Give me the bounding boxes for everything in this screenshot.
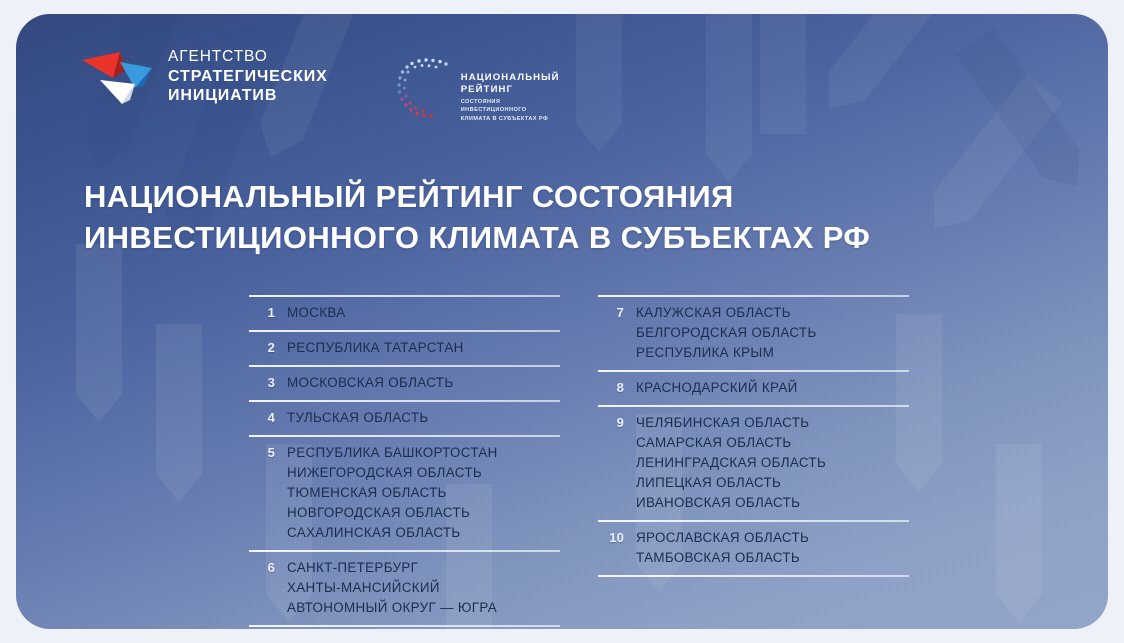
presentation-card: АГЕНТСТВО СТРАТЕГИЧЕСКИХ ИНИЦИАТИВ [16, 14, 1108, 629]
region-list: ТУЛЬСКАЯ ОБЛАСТЬ [287, 408, 429, 428]
rank-number: 8 [598, 378, 624, 398]
region-list: КАЛУЖСКАЯ ОБЛАСТЬБЕЛГОРОДСКАЯ ОБЛАСТЬРЕС… [636, 303, 817, 363]
region-list: ЯРОСЛАВСКАЯ ОБЛАСТЬТАМБОВСКАЯ ОБЛАСТЬ [636, 528, 809, 568]
region-name: ТУЛЬСКАЯ ОБЛАСТЬ [287, 408, 429, 428]
region-name: ХАНТЫ-МАНСИЙСКИЙ [287, 578, 497, 598]
region-name: РЕСПУБЛИКА БАШКОРТОСТАН [287, 443, 498, 463]
region-list: КРАСНОДАРСКИЙ КРАЙ [636, 378, 798, 398]
ranking-row: 10ЯРОСЛАВСКАЯ ОБЛАСТЬТАМБОВСКАЯ ОБЛАСТЬ [598, 520, 909, 575]
page-title-line-2: ИНВЕСТИЦИОННОГО КЛИМАТА В СУБЪЕКТАХ РФ [84, 218, 870, 259]
ranking-row-inner: 6САНКТ-ПЕТЕРБУРГХАНТЫ-МАНСИЙСКИЙАВТОНОМН… [249, 554, 560, 618]
ranking-row: 6САНКТ-ПЕТЕРБУРГХАНТЫ-МАНСИЙСКИЙАВТОНОМН… [249, 550, 560, 625]
region-name: КРАСНОДАРСКИЙ КРАЙ [636, 378, 798, 398]
region-name: НОВГОРОДСКАЯ ОБЛАСТЬ [287, 503, 498, 523]
ranking-row-inner: 7КАЛУЖСКАЯ ОБЛАСТЬБЕЛГОРОДСКАЯ ОБЛАСТЬРЕ… [598, 299, 909, 363]
nr-logo-subtitle: СОСТОЯНИЯ ИНВЕСТИЦИОННОГО КЛИМАТА В СУБЪ… [461, 98, 560, 123]
ranking-row: 1МОСКВА [249, 295, 560, 330]
region-name: МОСКВА [287, 303, 345, 323]
region-list: РЕСПУБЛИКА БАШКОРТОСТАННИЖЕГОРОДСКАЯ ОБЛ… [287, 443, 498, 543]
ranking-row-inner: 1МОСКВА [249, 299, 560, 323]
rank-number: 2 [249, 338, 275, 358]
page-title-line-1: НАЦИОНАЛЬНЫЙ РЕЙТИНГ СОСТОЯНИЯ [84, 177, 870, 218]
region-name: БЕЛГОРОДСКАЯ ОБЛАСТЬ [636, 323, 817, 343]
region-name: МОСКОВСКАЯ ОБЛАСТЬ [287, 373, 453, 393]
national-rating-logo-text: НАЦИОНАЛЬНЫЙ РЕЙТИНГ СОСТОЯНИЯ ИНВЕСТИЦИ… [461, 60, 560, 123]
asi-arrows-logo-icon [80, 48, 154, 106]
rank-number: 3 [249, 373, 275, 393]
region-name: КАЛУЖСКАЯ ОБЛАСТЬ [636, 303, 817, 323]
region-list: ЧЕЛЯБИНСКАЯ ОБЛАСТЬСАМАРСКАЯ ОБЛАСТЬЛЕНИ… [636, 413, 826, 513]
ranking-row: 3МОСКОВСКАЯ ОБЛАСТЬ [249, 365, 560, 400]
rank-number: 10 [598, 528, 624, 548]
rank-number: 1 [249, 303, 275, 323]
region-list: МОСКОВСКАЯ ОБЛАСТЬ [287, 373, 453, 393]
ranking-row: 2РЕСПУБЛИКА ТАТАРСТАН [249, 330, 560, 365]
region-name: ТАМБОВСКАЯ ОБЛАСТЬ [636, 548, 809, 568]
nr-logo-sub-2: ИНВЕСТИЦИОННОГО [461, 106, 560, 114]
ranking-column-end-divider [598, 575, 909, 577]
ranking-columns: 1МОСКВА2РЕСПУБЛИКА ТАТАРСТАН3МОСКОВСКАЯ … [249, 295, 909, 627]
ranking-row: 7КАЛУЖСКАЯ ОБЛАСТЬБЕЛГОРОДСКАЯ ОБЛАСТЬРЕ… [598, 295, 909, 370]
ranking-row-inner: 10ЯРОСЛАВСКАЯ ОБЛАСТЬТАМБОВСКАЯ ОБЛАСТЬ [598, 524, 909, 568]
ranking-column-right: 7КАЛУЖСКАЯ ОБЛАСТЬБЕЛГОРОДСКАЯ ОБЛАСТЬРЕ… [598, 295, 909, 627]
ranking-row-inner: 8КРАСНОДАРСКИЙ КРАЙ [598, 374, 909, 398]
ranking-row-inner: 2РЕСПУБЛИКА ТАТАРСТАН [249, 334, 560, 358]
ranking-row-inner: 9ЧЕЛЯБИНСКАЯ ОБЛАСТЬСАМАРСКАЯ ОБЛАСТЬЛЕН… [598, 409, 909, 513]
region-name: САНКТ-ПЕТЕРБУРГ [287, 558, 497, 578]
region-name: АВТОНОМНЫЙ ОКРУГ — ЮГРА [287, 598, 497, 618]
region-name: ТЮМЕНСКАЯ ОБЛАСТЬ [287, 483, 498, 503]
region-list: РЕСПУБЛИКА ТАТАРСТАН [287, 338, 464, 358]
nr-logo-line-2: РЕЙТИНГ [461, 84, 560, 96]
asi-logo-line-3: ИНИЦИАТИВ [168, 86, 328, 106]
region-name: ЯРОСЛАВСКАЯ ОБЛАСТЬ [636, 528, 809, 548]
asi-logo-text: АГЕНТСТВО СТРАТЕГИЧЕСКИХ ИНИЦИАТИВ [168, 48, 328, 106]
asi-logo-line-1: АГЕНТСТВО [168, 48, 328, 67]
ranking-column-left: 1МОСКВА2РЕСПУБЛИКА ТАТАРСТАН3МОСКОВСКАЯ … [249, 295, 560, 627]
ranking-row: 9ЧЕЛЯБИНСКАЯ ОБЛАСТЬСАМАРСКАЯ ОБЛАСТЬЛЕН… [598, 405, 909, 520]
ranking-row-inner: 3МОСКОВСКАЯ ОБЛАСТЬ [249, 369, 560, 393]
nr-logo-sub-1: СОСТОЯНИЯ [461, 98, 560, 106]
asi-logo: АГЕНТСТВО СТРАТЕГИЧЕСКИХ ИНИЦИАТИВ [80, 48, 328, 106]
ranking-row: 5РЕСПУБЛИКА БАШКОРТОСТАННИЖЕГОРОДСКАЯ ОБ… [249, 435, 560, 550]
ranking-column-end-divider [249, 625, 560, 627]
region-list: МОСКВА [287, 303, 345, 323]
asi-logo-line-2: СТРАТЕГИЧЕСКИХ [168, 67, 328, 87]
region-name: РЕСПУБЛИКА ТАТАРСТАН [287, 338, 464, 358]
region-name: ЧЕЛЯБИНСКАЯ ОБЛАСТЬ [636, 413, 826, 433]
ranking-row-inner: 4ТУЛЬСКАЯ ОБЛАСТЬ [249, 404, 560, 428]
region-name: ЛИПЕЦКАЯ ОБЛАСТЬ [636, 473, 826, 493]
rank-number: 6 [249, 558, 275, 578]
ranking-row: 4ТУЛЬСКАЯ ОБЛАСТЬ [249, 400, 560, 435]
logo-bar: АГЕНТСТВО СТРАТЕГИЧЕСКИХ ИНИЦИАТИВ [80, 48, 560, 123]
rank-number: 4 [249, 408, 275, 428]
region-name: САХАЛИНСКАЯ ОБЛАСТЬ [287, 523, 498, 543]
region-name: ИВАНОВСКАЯ ОБЛАСТЬ [636, 493, 826, 513]
region-name: ЛЕНИНГРАДСКАЯ ОБЛАСТЬ [636, 453, 826, 473]
ranking-row-inner: 5РЕСПУБЛИКА БАШКОРТОСТАННИЖЕГОРОДСКАЯ ОБ… [249, 439, 560, 543]
region-name: РЕСПУБЛИКА КРЫМ [636, 343, 817, 363]
page-title: НАЦИОНАЛЬНЫЙ РЕЙТИНГ СОСТОЯНИЯ ИНВЕСТИЦИ… [84, 177, 870, 259]
nr-logo-sub-3: КЛИМАТА В СУБЪЕКТАХ РФ [461, 115, 560, 123]
ranking-row: 8КРАСНОДАРСКИЙ КРАЙ [598, 370, 909, 405]
region-name: САМАРСКАЯ ОБЛАСТЬ [636, 433, 826, 453]
rank-number: 7 [598, 303, 624, 323]
slide-canvas: АГЕНТСТВО СТРАТЕГИЧЕСКИХ ИНИЦИАТИВ [0, 0, 1124, 643]
region-list: САНКТ-ПЕТЕРБУРГХАНТЫ-МАНСИЙСКИЙАВТОНОМНЫ… [287, 558, 497, 618]
national-rating-logo: НАЦИОНАЛЬНЫЙ РЕЙТИНГ СОСТОЯНИЯ ИНВЕСТИЦИ… [396, 60, 560, 123]
nr-logo-line-1: НАЦИОНАЛЬНЫЙ [461, 72, 560, 84]
rank-number: 9 [598, 413, 624, 433]
region-name: НИЖЕГОРОДСКАЯ ОБЛАСТЬ [287, 463, 498, 483]
dotted-arc-logo-icon [396, 56, 454, 118]
rank-number: 5 [249, 443, 275, 463]
